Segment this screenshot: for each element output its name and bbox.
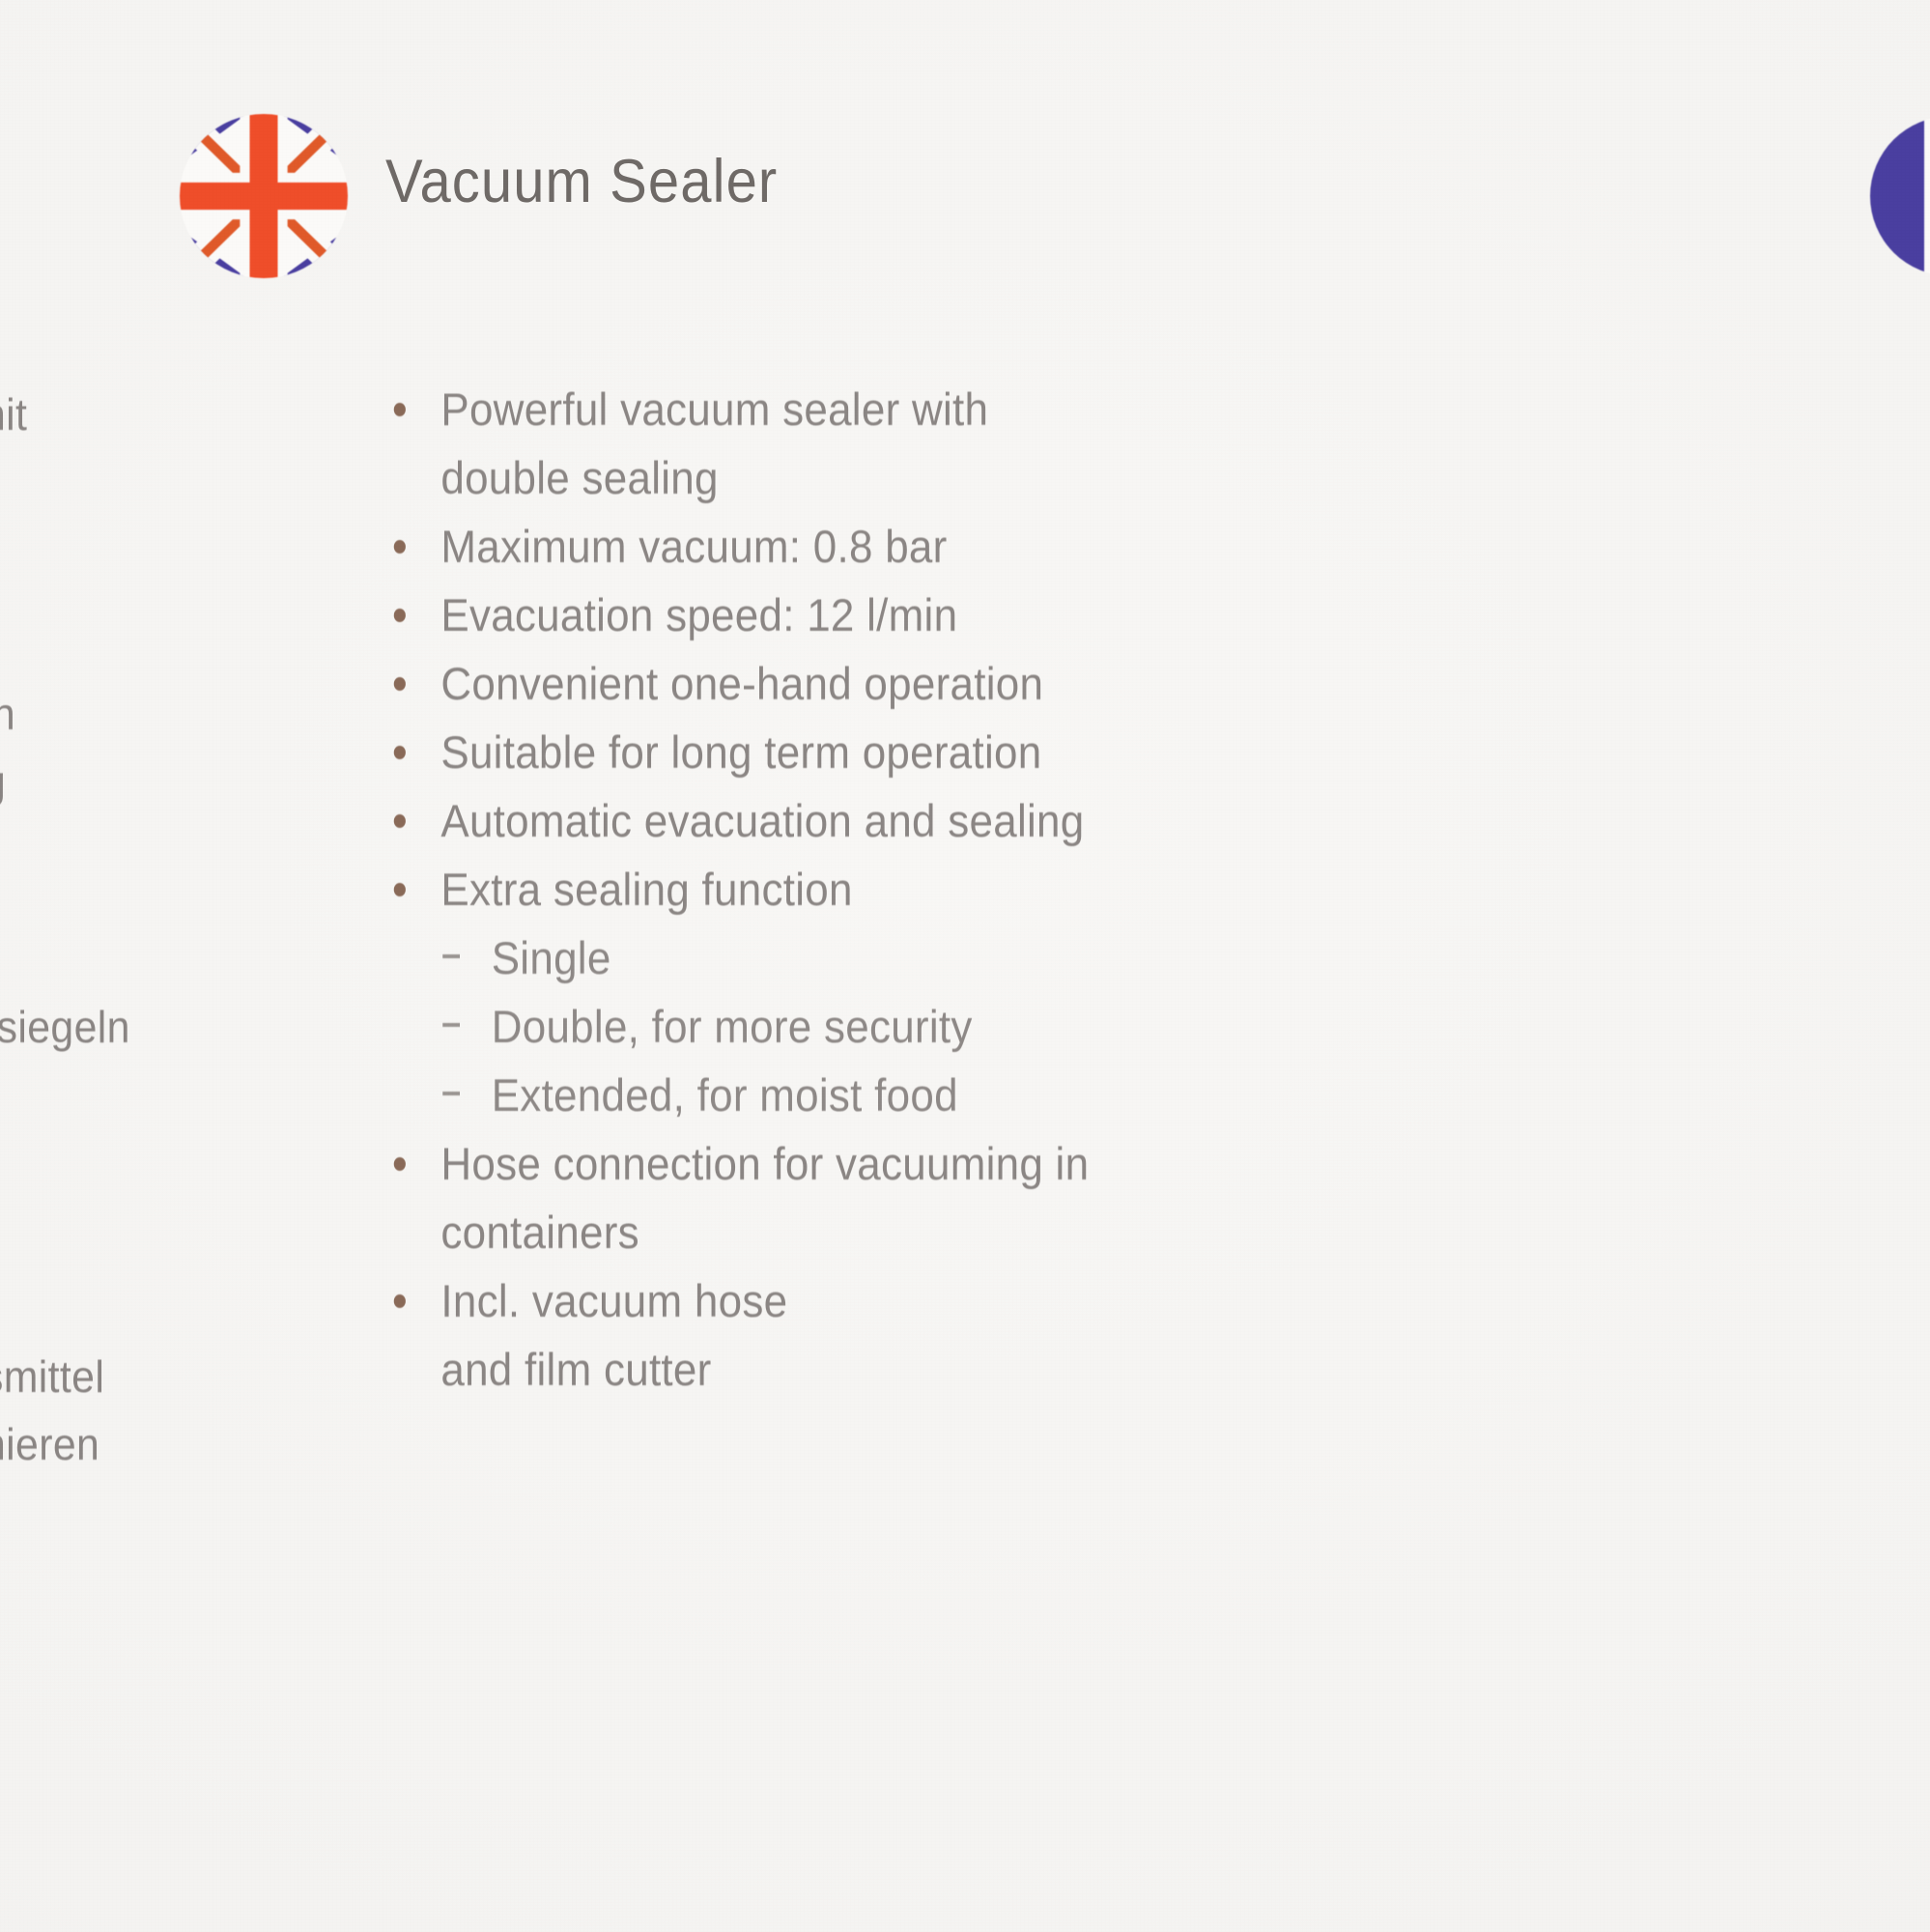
german-text-fragment: in bbox=[0, 688, 15, 740]
feature-text: Suitable for long term operation bbox=[440, 726, 1041, 778]
feature-text: Automatic evacuation and sealing bbox=[440, 795, 1084, 846]
german-text-fragment: nit bbox=[0, 388, 27, 440]
feature-text: Convenient one-hand operation bbox=[440, 658, 1043, 709]
feature-list-item: Evacuation speed: 12 l/min bbox=[390, 581, 1727, 649]
feature-text: Hose connection for vacuuming in contain… bbox=[440, 1138, 1089, 1258]
page-title: Vacuum Sealer bbox=[385, 147, 778, 216]
feature-list-item: Automatic evacuation and sealing bbox=[390, 786, 1727, 855]
france-flag-svg bbox=[1870, 116, 1930, 276]
feature-list-item: Powerful vacuum sealer with double seali… bbox=[390, 375, 1727, 512]
bullet-dot-icon bbox=[394, 540, 406, 554]
german-text-fragment: rsiegeln bbox=[0, 1001, 130, 1053]
english-feature-list: Powerful vacuum sealer with double seali… bbox=[390, 375, 1820, 1404]
feature-list-item: Convenient one-hand operation bbox=[390, 649, 1727, 718]
feature-text: Powerful vacuum sealer with double seali… bbox=[440, 384, 988, 503]
german-text-fragment: nieren bbox=[0, 1418, 99, 1470]
german-text-fragment: g bbox=[0, 755, 6, 808]
feature-sub-item: Double, for more security bbox=[390, 992, 1727, 1061]
german-column: nitingrsiegelnsmittelnieren bbox=[0, 0, 241, 1932]
dash-marker-icon bbox=[442, 954, 460, 958]
france-flag-icon bbox=[1870, 116, 1930, 276]
feature-list-item: Extra sealing function bbox=[390, 855, 1727, 923]
feature-text: Maximum vacuum: 0.8 bar bbox=[440, 521, 947, 572]
bullet-dot-icon bbox=[394, 814, 406, 828]
feature-text: Single bbox=[492, 932, 611, 983]
feature-list-item: Maximum vacuum: 0.8 bar bbox=[390, 512, 1727, 581]
packaging-panel: Vacuum Sealer nitingrsiegelnsmittelniere… bbox=[0, 0, 1930, 1932]
dash-marker-icon bbox=[442, 1023, 460, 1027]
feature-sub-item: Extended, for moist food bbox=[390, 1061, 1727, 1129]
dash-marker-icon bbox=[442, 1092, 460, 1095]
german-text-fragment: smittel bbox=[0, 1350, 104, 1403]
feature-sub-item: Single bbox=[390, 923, 1727, 992]
feature-list-item: Hose connection for vacuuming in contain… bbox=[390, 1129, 1727, 1266]
bullet-dot-icon bbox=[394, 883, 406, 896]
feature-text: Extended, for moist food bbox=[492, 1069, 958, 1121]
feature-text: Evacuation speed: 12 l/min bbox=[440, 589, 957, 640]
bullet-dot-icon bbox=[394, 1294, 406, 1308]
feature-text: Incl. vacuum hose and film cutter bbox=[440, 1275, 787, 1395]
bullet-dot-icon bbox=[394, 677, 406, 691]
bullet-dot-icon bbox=[394, 609, 406, 622]
feature-text: Extra sealing function bbox=[440, 864, 852, 915]
feature-list-item: Incl. vacuum hose and film cutter bbox=[390, 1266, 1727, 1404]
feature-text: Double, for more security bbox=[492, 1001, 973, 1052]
feature-list-item: Suitable for long term operation bbox=[390, 718, 1727, 786]
bullet-dot-icon bbox=[394, 1157, 406, 1171]
bullet-dot-icon bbox=[394, 403, 406, 416]
bullet-dot-icon bbox=[394, 746, 406, 759]
